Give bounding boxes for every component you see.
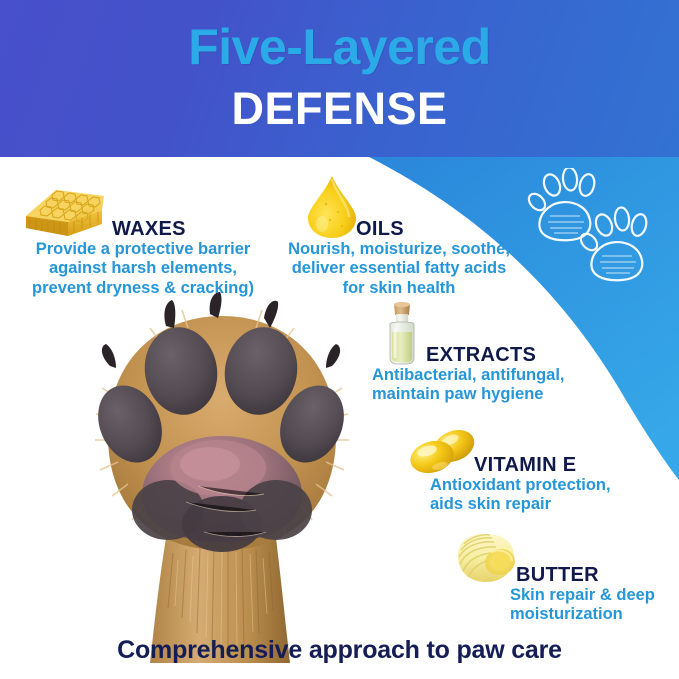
page-subtitle: DEFENSE: [0, 86, 679, 132]
ingredient-description: Nourish, moisturize, soothe, deliver ess…: [268, 240, 530, 298]
ingredient-description: Antibacterial, antifungal, maintain paw …: [372, 366, 607, 405]
ingredient-name: BUTTER: [516, 564, 599, 587]
ingredient-name: WAXES: [112, 218, 186, 241]
softgel-capsules-icon: [408, 428, 480, 480]
paw-print-icon: [526, 168, 597, 240]
dog-paw-photo: [58, 288, 388, 663]
infographic-poster: Five-Layered DEFENSE: [0, 0, 679, 679]
ingredient-name: OILS: [356, 218, 404, 241]
oil-drop-icon: [304, 174, 360, 240]
ingredient-name: EXTRACTS: [426, 344, 536, 367]
ingredient-description: Skin repair & deep moisturization: [510, 586, 679, 625]
ingredient-description: Provide a protective barrier against har…: [14, 240, 272, 298]
page-title: Five-Layered: [0, 22, 679, 73]
honeycomb-icon: [16, 176, 112, 238]
paw-print-decorations: [520, 168, 660, 288]
extract-bottle-icon: [380, 302, 424, 366]
header-banner: Five-Layered DEFENSE: [0, 0, 679, 157]
ingredient-description: Antioxidant protection, aids skin repair: [430, 476, 655, 515]
footer-tagline: Comprehensive approach to paw care: [0, 636, 679, 665]
butter-curl-icon: [448, 530, 524, 588]
ingredient-name: VITAMIN E: [474, 454, 576, 477]
